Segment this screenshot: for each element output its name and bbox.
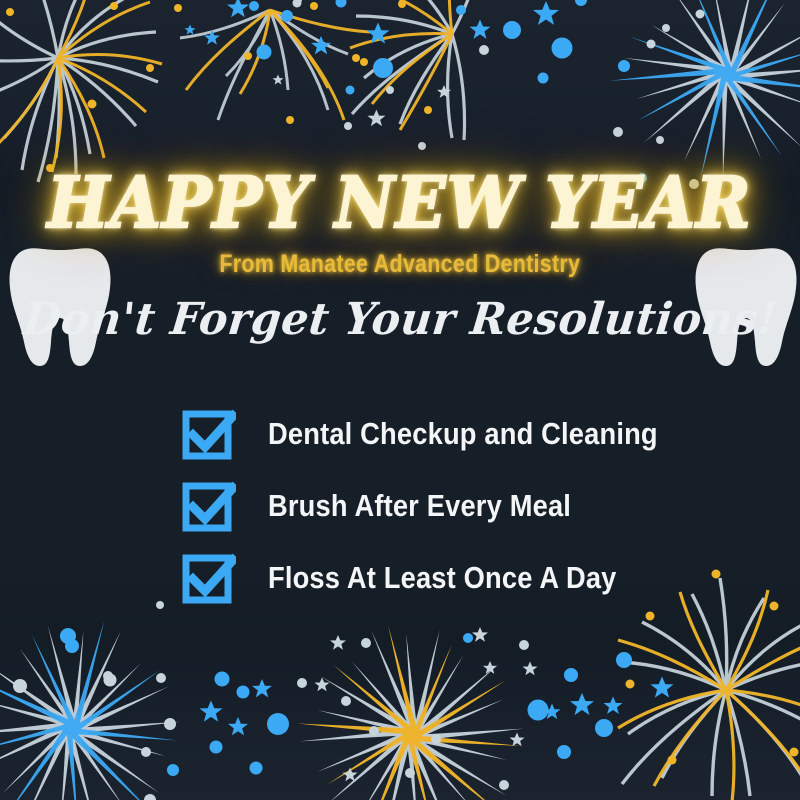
list-item-label: Brush After Every Meal	[268, 488, 571, 524]
list-item-label: Floss At Least Once A Day	[268, 560, 617, 596]
checked-checkbox-icon[interactable]	[182, 552, 236, 604]
poster-background	[0, 0, 800, 800]
list-item-label: Dental Checkup and Cleaning	[268, 416, 658, 452]
new-year-poster: HAPPY NEW YEAR From Manatee Advanced Den…	[0, 0, 800, 800]
subheadline-text: From Manatee Advanced Dentistry	[220, 250, 581, 279]
tagline-container: Don't Forget Your Resolutions!	[0, 296, 800, 344]
headline-text: HAPPY NEW YEAR	[48, 168, 752, 238]
headline-container: HAPPY NEW YEAR	[0, 168, 800, 238]
list-item[interactable]: Dental Checkup and Cleaning	[182, 406, 711, 462]
tagline-text: Don't Forget Your Resolutions!	[21, 296, 779, 344]
checked-checkbox-icon[interactable]	[182, 408, 236, 460]
list-item[interactable]: Floss At Least Once A Day	[182, 550, 711, 606]
subheadline-container: From Manatee Advanced Dentistry	[0, 250, 800, 279]
list-item[interactable]: Brush After Every Meal	[182, 478, 711, 534]
checked-checkbox-icon[interactable]	[182, 480, 236, 532]
resolutions-checklist: Dental Checkup and Cleaning Brush After …	[182, 406, 711, 606]
